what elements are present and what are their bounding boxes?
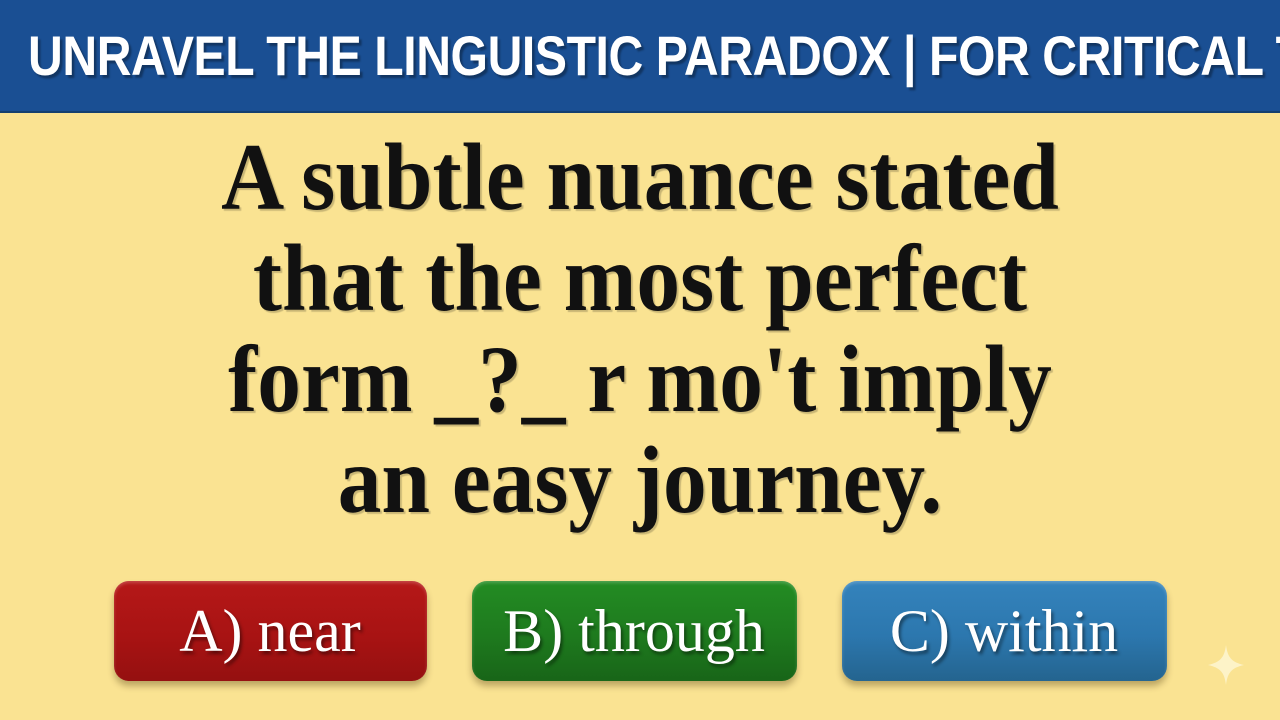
question-line-4: an easy journey. [51, 430, 1229, 531]
answer-option-b[interactable]: B) through [472, 581, 797, 681]
question-line-1: A subtle nuance stated [51, 127, 1229, 228]
answer-option-b-label: B) through [503, 600, 765, 662]
quiz-card: UNRAVEL THE LINGUISTIC PARADOX | FOR CRI… [0, 0, 1280, 720]
question-text: A subtle nuance stated that the most per… [0, 127, 1280, 531]
answer-option-c[interactable]: C) within [842, 581, 1167, 681]
page-title: UNRAVEL THE LINGUISTIC PARADOX | FOR CRI… [28, 28, 1280, 84]
question-line-2: that the most perfect [51, 228, 1229, 329]
header-banner: UNRAVEL THE LINGUISTIC PARADOX | FOR CRI… [0, 0, 1280, 113]
answer-option-c-label: C) within [890, 600, 1118, 662]
answer-options: A) near B) through C) within [0, 581, 1280, 685]
answer-option-a[interactable]: A) near [114, 581, 427, 681]
answer-option-a-label: A) near [179, 600, 361, 662]
question-line-3: form _?_ r mo't imply [51, 329, 1229, 430]
